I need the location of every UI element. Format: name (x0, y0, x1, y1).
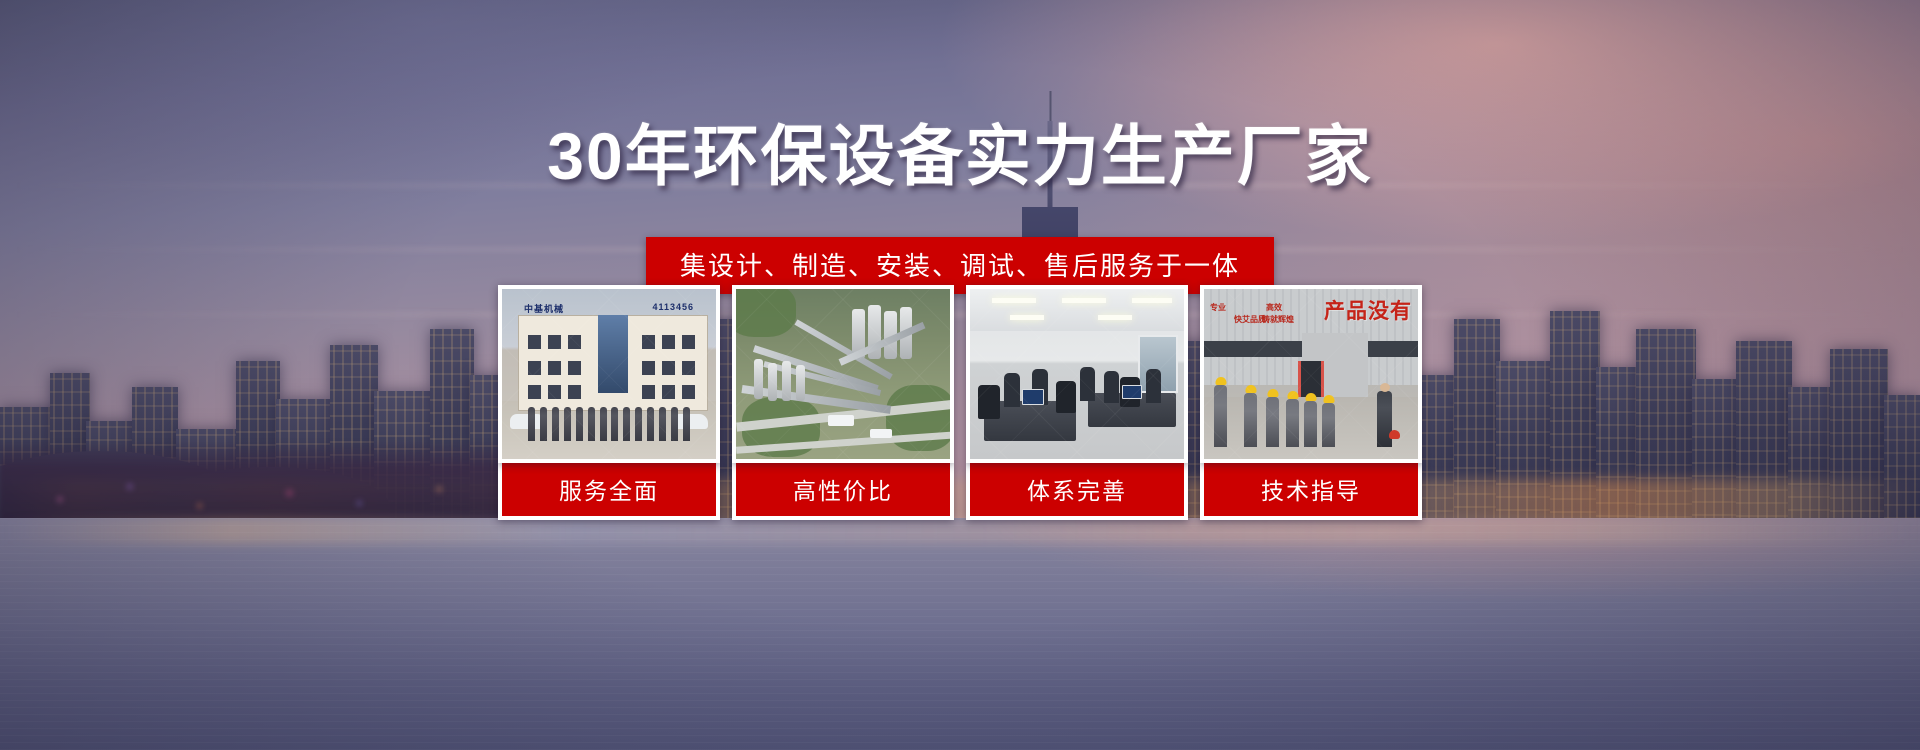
feature-card[interactable]: 高性价比 (732, 285, 954, 520)
feature-card: 体系完善 (966, 285, 1188, 520)
card-photo-headquarters: 中基机械 4113456 (498, 285, 720, 463)
card-photo-factory: 产品没有 专业 快艾品质 高效 铸就辉煌 (1200, 285, 1422, 463)
building-phone-text: 4113456 (652, 302, 694, 315)
page-title: 30年环保设备实力生产厂家 (0, 103, 1920, 199)
factory-slogan-4: 铸就辉煌 (1262, 315, 1294, 325)
card-caption: 体系完善 (966, 463, 1188, 520)
card-caption: 服务全面 (498, 463, 720, 520)
feature-card[interactable]: 产品没有 专业 快艾品质 高效 铸就辉煌 (1200, 285, 1422, 520)
feature-card[interactable]: 中基机械 4113456 服务全面 (498, 285, 720, 520)
card-caption: 高性价比 (732, 463, 954, 520)
card-photo-plant (732, 285, 954, 463)
building-sign-text: 中基机械 (524, 302, 564, 315)
promo-banner: 30年环保设备实力生产厂家 集设计、制造、安装、调试、售后服务于一体 (0, 0, 1920, 750)
card-photo-office (966, 285, 1188, 463)
factory-slogan-1: 专业 (1210, 303, 1226, 313)
factory-sign-text: 产品没有 (1324, 295, 1412, 325)
factory-slogan-3: 高效 (1266, 303, 1282, 313)
card-caption: 技术指导 (1200, 463, 1422, 520)
feature-card-list: 中基机械 4113456 服务全面 (498, 285, 1422, 520)
